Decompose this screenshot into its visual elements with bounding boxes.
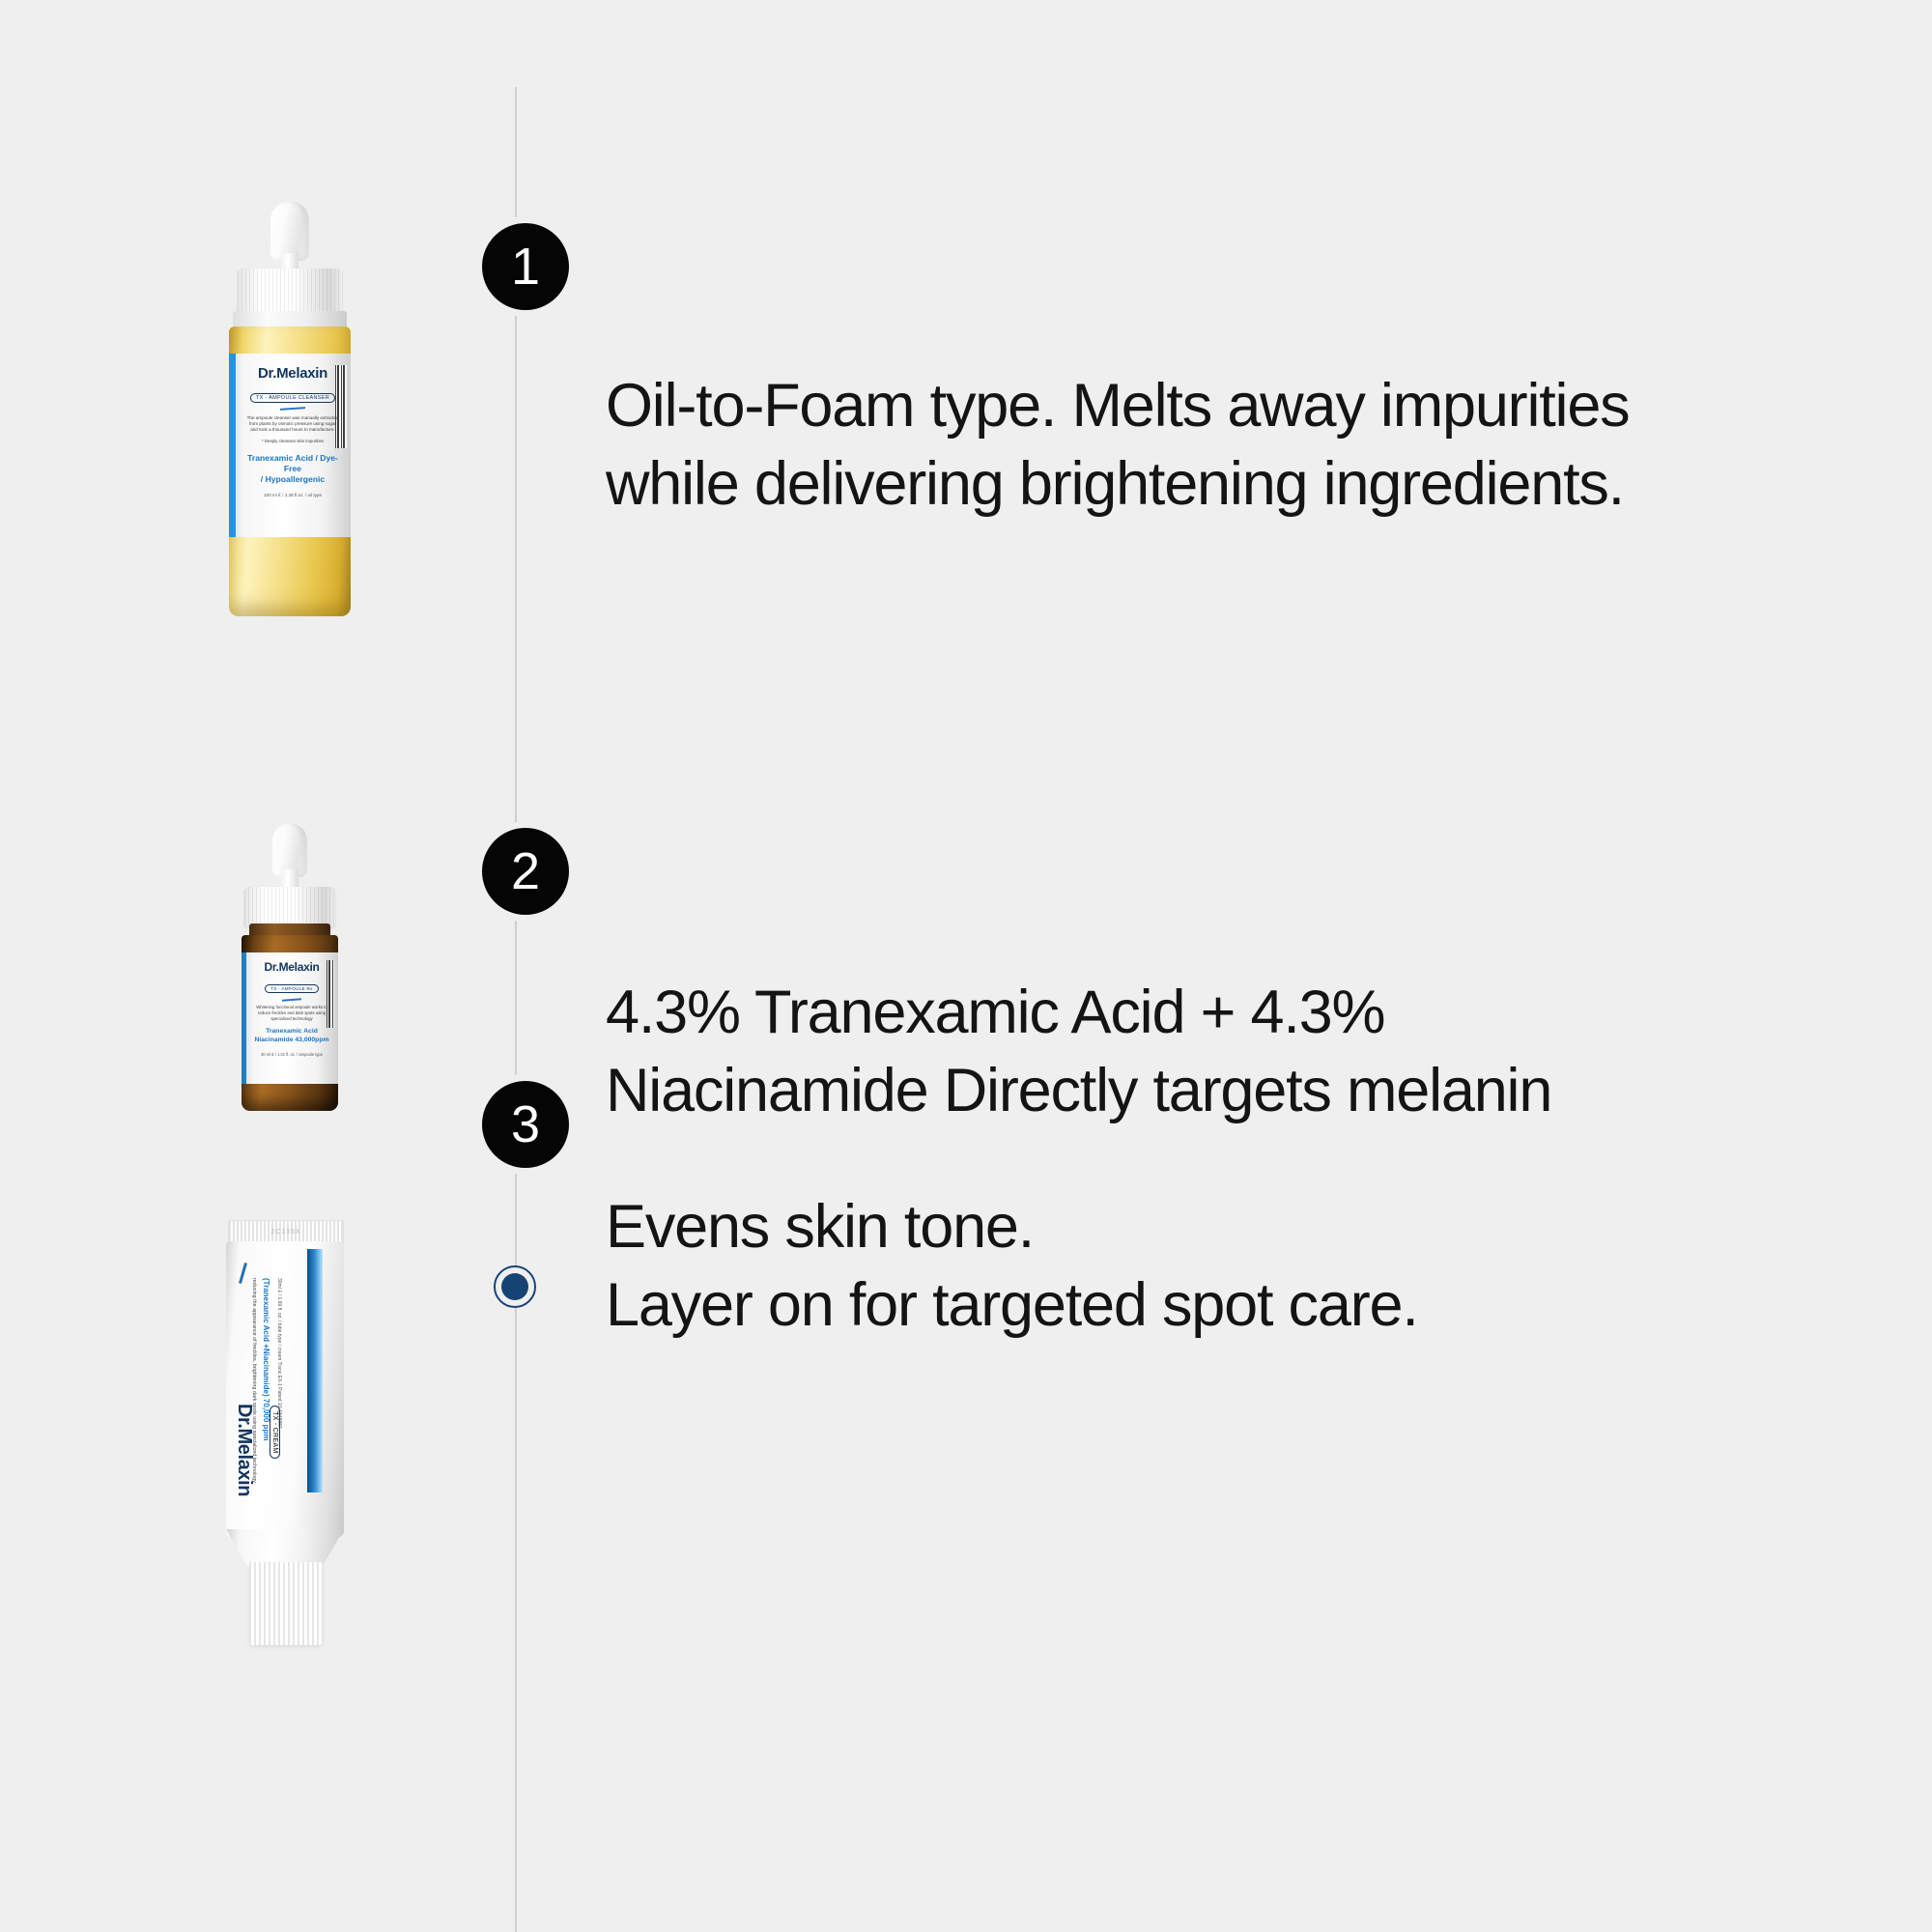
label-accent-stripe	[241, 952, 246, 1084]
label-divider-dash	[282, 998, 301, 1001]
tube-tick-mark	[239, 1263, 247, 1284]
label-description: The ampoule cleanser was manually extrac…	[241, 415, 345, 434]
label-description: Whitening functional ampoule works to re…	[250, 1005, 333, 1021]
timeline-line	[515, 87, 517, 1932]
dropper-collar	[238, 269, 342, 315]
bottle-body: Dr.Melaxin TX - AMPOULE CLEANSER The amp…	[229, 327, 351, 616]
tube-product-tag: TX - CREAM	[269, 1406, 286, 1459]
bottle-label: Dr.Melaxin TX - AMPOULE Rx Whitening fun…	[241, 952, 338, 1084]
product-tag: TX - AMPOULE CLEANSER	[250, 393, 335, 403]
tube-crimp-code: 2C135X	[270, 1229, 300, 1236]
label-ingredients: Tranexamic Acid / Dye-Free / Hypoallerge…	[241, 453, 345, 486]
step-number-badge-2: 2	[475, 821, 576, 922]
timeline-dot-step-3	[494, 1265, 536, 1308]
tube-volume-text: 30ml ℇ / 1.69 fl. oz. / tube type / crea…	[276, 1278, 282, 1510]
product-image-cleanser: Dr.Melaxin TX - AMPOULE CLEANSER The amp…	[145, 193, 435, 638]
bottle-label: Dr.Melaxin TX - AMPOULE CLEANSER The amp…	[229, 354, 351, 537]
dropper-bottle-cleanser: Dr.Melaxin TX - AMPOULE CLEANSER The amp…	[213, 193, 367, 628]
tube-brand-name: Dr.Melaxin	[233, 1404, 255, 1529]
tube-cap	[249, 1562, 323, 1645]
step-number-badge-3: 3	[475, 1074, 576, 1175]
step-copy-3: Evens skin tone. Layer on for targeted s…	[606, 1188, 1852, 1344]
label-volume: 30 ml ℇ / 1.01 fl. oz. / ampoule type	[250, 1052, 333, 1057]
cream-tube: 2C135X (Tranexamic Acid +Niacinamide) 70…	[203, 1125, 377, 1705]
dropper-collar	[244, 887, 335, 927]
label-divider-dash	[280, 407, 305, 411]
brand-name: Dr.Melaxin	[250, 960, 333, 974]
label-volume: 100 ml ℇ / 3.38 fl.oz. / oil type	[241, 493, 345, 498]
brand-name: Dr.Melaxin	[241, 365, 345, 382]
product-image-ampoule: Dr.Melaxin TX - AMPOULE Rx Whitening fun…	[145, 715, 435, 1121]
product-image-cream-tube: 2C135X (Tranexamic Acid +Niacinamide) 70…	[145, 1125, 435, 1705]
bottle-body: Dr.Melaxin TX - AMPOULE Rx Whitening fun…	[241, 935, 338, 1111]
tube-body: (Tranexamic Acid +Niacinamide) 70,000 pp…	[226, 1241, 344, 1537]
step-copy-1: Oil-to-Foam type. Melts away impurities …	[606, 367, 1852, 523]
tube-product-tag-label: TX - CREAM	[270, 1406, 280, 1459]
tube-blue-stripe	[307, 1249, 323, 1492]
label-claim: * Deeply cleanses skin impurities	[241, 439, 345, 444]
product-tag: TX - AMPOULE Rx	[265, 984, 319, 993]
step-copy-2: 4.3% Tranexamic Acid + 4.3% Niacinamide …	[606, 974, 1852, 1129]
dropper-bulb	[270, 201, 309, 261]
tube-ingredient-text: (Tranexamic Acid +Niacinamide) 70,000 pp…	[262, 1278, 270, 1500]
label-accent-stripe	[229, 354, 236, 537]
label-ingredients: Tranexamic Acid Niacinamide 43,000ppm	[250, 1028, 333, 1045]
dropper-bottle-ampoule: Dr.Melaxin TX - AMPOULE Rx Whitening fun…	[213, 715, 367, 1121]
step-number-badge-1: 1	[475, 216, 576, 317]
